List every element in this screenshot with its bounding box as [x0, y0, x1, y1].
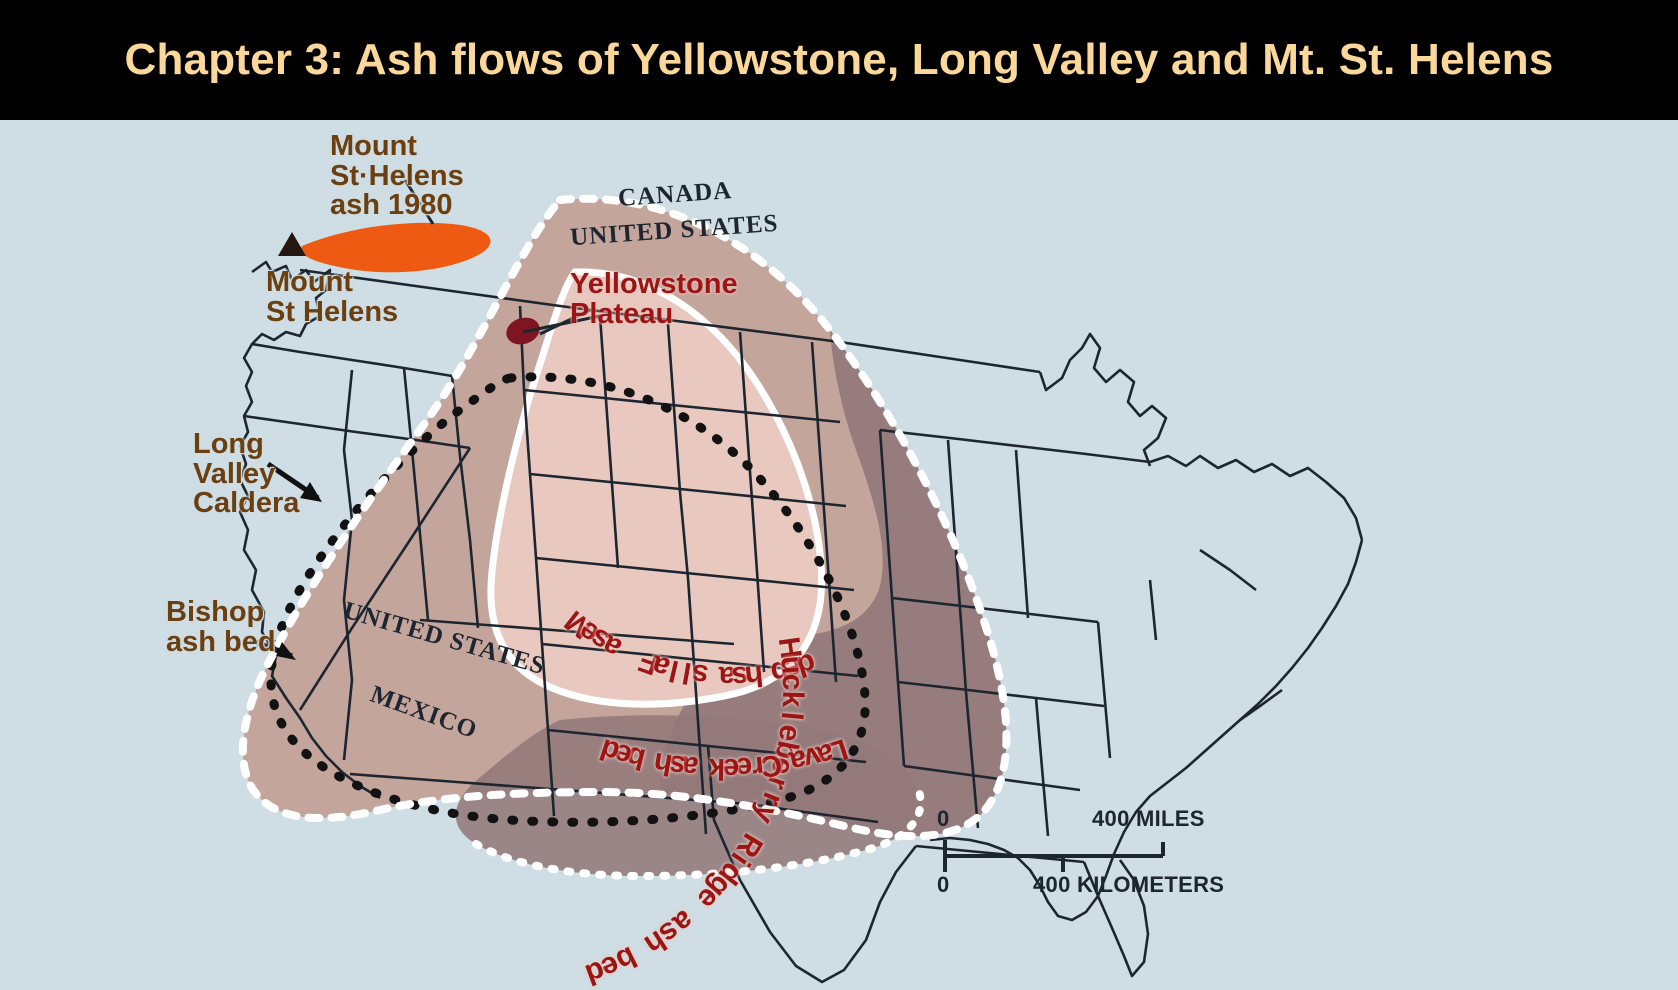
- scale-kilometers-zero: 0: [937, 874, 950, 896]
- scale-miles-label: 400 MILES: [1092, 808, 1205, 830]
- slide-page: Chapter 3: Ash flows of Yellowstone, Lon…: [0, 0, 1678, 990]
- label-long-valley-caldera: Long Valley Caldera: [193, 430, 299, 519]
- slide-title-bar: Chapter 3: Ash flows of Yellowstone, Lon…: [0, 0, 1678, 120]
- map-canvas: Mount St·Helens ash 1980 Mount St Helens…: [0, 120, 1678, 990]
- scale-kilometers-label: 400 KILOMETERS: [1033, 874, 1224, 896]
- label-mount-st-helens-volcano: Mount St Helens: [266, 268, 398, 327]
- page-title: Chapter 3: Ash flows of Yellowstone, Lon…: [125, 35, 1554, 85]
- label-mount-st-helens-ash: Mount St·Helens ash 1980: [330, 132, 464, 221]
- scale-miles-zero: 0: [937, 808, 950, 830]
- label-bishop-ash-bed: Bishop ash bed: [166, 598, 276, 657]
- map-svg: [0, 120, 1678, 990]
- label-yellowstone-plateau: Yellowstone Plateau: [570, 270, 738, 329]
